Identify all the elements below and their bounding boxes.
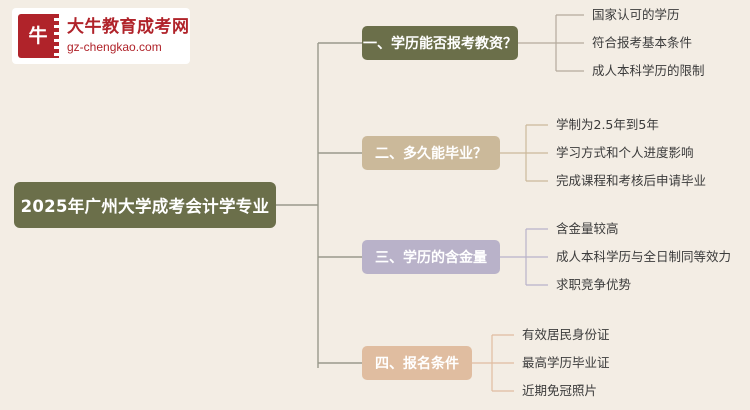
- branch-node-3[interactable]: 三、学历的含金量: [362, 240, 500, 274]
- branch-node-4[interactable]: 四、报名条件: [362, 346, 472, 380]
- branch-node-4-label: 四、报名条件: [375, 353, 459, 373]
- leaf-4-1: 有效居民身份证: [522, 329, 610, 342]
- logo-subtitle: gz-chengkao.com: [67, 41, 190, 54]
- leaf-4-3: 近期免冠照片: [522, 385, 597, 398]
- branch-node-1[interactable]: 一、学历能否报考教资？: [362, 26, 518, 60]
- branch-node-3-label: 三、学历的含金量: [375, 247, 487, 267]
- leaf-2-1: 学制为2.5年到5年: [556, 119, 659, 132]
- root-node-label: 2025年广州大学成考会计学专业: [21, 193, 270, 217]
- logo-mark-char: 牛: [28, 27, 47, 46]
- mindmap-canvas: 牛 大牛教育成考网 gz-chengkao.com 2025年广州大学成考会计学…: [0, 0, 750, 410]
- leaf-3-3: 求职竞争优势: [556, 279, 631, 292]
- leaf-3-2: 成人本科学历与全日制同等效力: [556, 251, 731, 264]
- leaf-4-2: 最高学历毕业证: [522, 357, 610, 370]
- branch-node-2-label: 二、多久能毕业？: [375, 143, 487, 163]
- leaf-1-1: 国家认可的学历: [592, 9, 680, 22]
- leaf-2-3: 完成课程和考核后申请毕业: [556, 175, 706, 188]
- root-node[interactable]: 2025年广州大学成考会计学专业: [14, 182, 276, 228]
- bull-logo-icon: 牛: [18, 14, 58, 58]
- site-logo[interactable]: 牛 大牛教育成考网 gz-chengkao.com: [12, 8, 190, 64]
- branch-node-2[interactable]: 二、多久能毕业？: [362, 136, 500, 170]
- leaf-1-2: 符合报考基本条件: [592, 37, 692, 50]
- leaf-2-2: 学习方式和个人进度影响: [556, 147, 694, 160]
- logo-title: 大牛教育成考网: [67, 18, 190, 38]
- leaf-1-3: 成人本科学历的限制: [592, 65, 705, 78]
- logo-text-group: 大牛教育成考网 gz-chengkao.com: [67, 18, 190, 54]
- branch-node-1-label: 一、学历能否报考教资？: [363, 33, 517, 53]
- leaf-3-1: 含金量较高: [556, 223, 619, 236]
